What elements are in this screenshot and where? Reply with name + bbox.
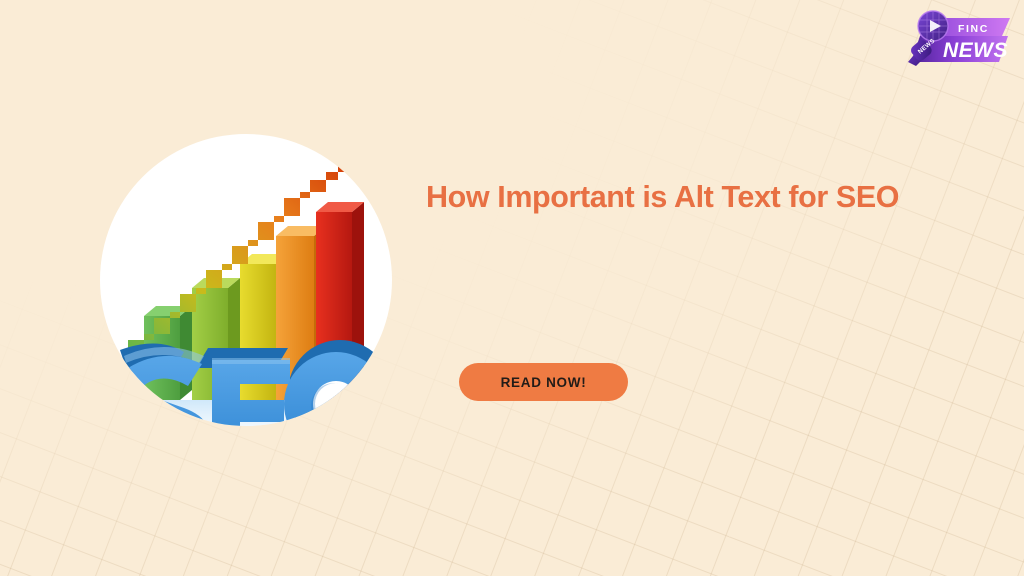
letter-e	[212, 360, 292, 440]
logo-brand-main: NEWS	[943, 39, 1008, 62]
promo-banner: NEWS FINC NEWS	[0, 0, 1024, 576]
read-now-button[interactable]: READ NOW!	[459, 363, 628, 401]
seo-growth-illustration	[100, 120, 392, 440]
finc-news-logo[interactable]: NEWS FINC NEWS	[898, 6, 1018, 68]
logo-brand-top: FINC	[958, 23, 989, 35]
page-title: How Important is Alt Text for SEO	[426, 181, 1018, 215]
